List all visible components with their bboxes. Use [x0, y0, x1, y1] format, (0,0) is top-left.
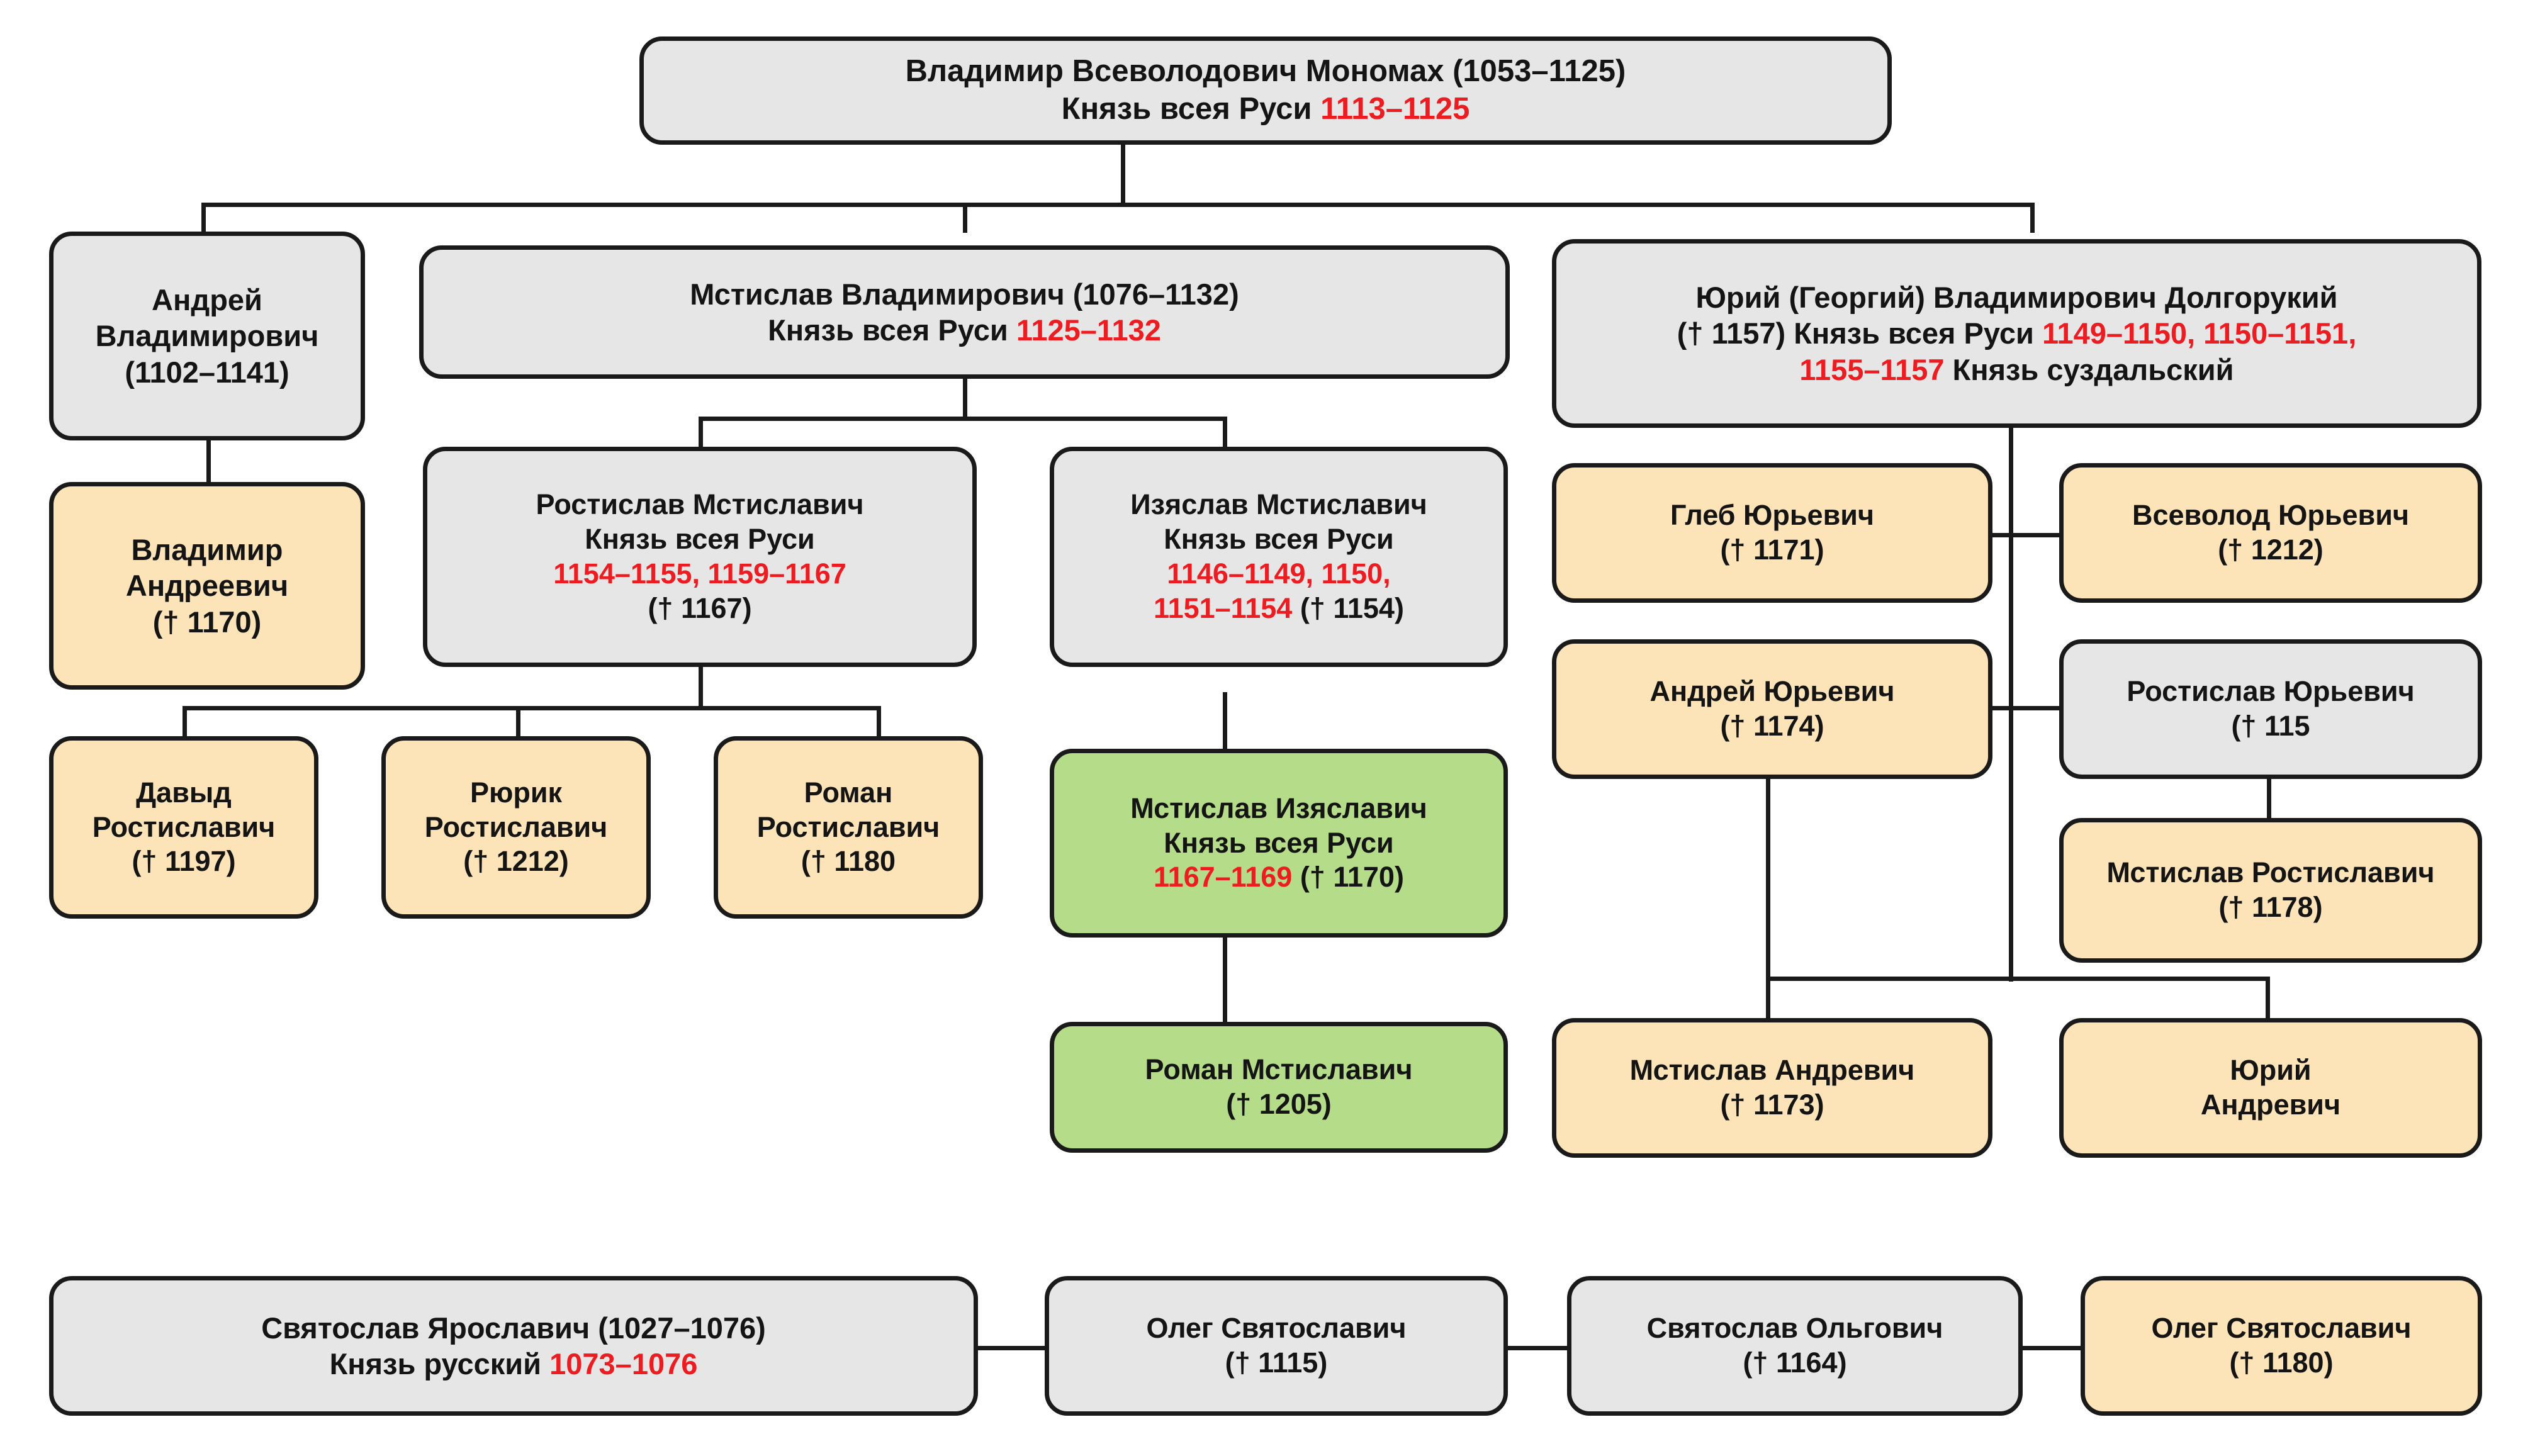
node-line: († 1180	[727, 844, 970, 879]
node-svyatoslav-yaroslavich[interactable]: Святослав Ярославич (1027–1076) Князь ру…	[49, 1276, 978, 1416]
node-line: Андревич	[2072, 1088, 2469, 1123]
reign-label: Князь всея Руси	[1062, 92, 1321, 126]
connector-yuri-spine	[2009, 428, 2013, 982]
node-line: Князь всея Руси	[1063, 826, 1495, 861]
connector-bus-to-andrey	[201, 203, 206, 233]
node-line: Олег Святославич	[2094, 1311, 2469, 1346]
node-line: Ростиславич	[395, 810, 638, 845]
connector-to-izyaslav-m	[1223, 417, 1227, 447]
node-line: Князь всея Руси 1113–1125	[653, 91, 1879, 128]
node-line: († 1170)	[62, 604, 352, 640]
node-izyaslav-mstislavich[interactable]: Изяслав Мстиславич Князь всея Руси 1146–…	[1050, 447, 1508, 667]
node-line: 1155–1157 Князь суздальский	[1565, 352, 2468, 388]
node-line: Андрей	[62, 282, 352, 318]
reign-years: 1167–1169	[1154, 861, 1292, 893]
node-line: († 1180)	[2094, 1346, 2469, 1380]
reign-label: Князь всея Руси	[768, 313, 1016, 347]
node-line-years: 1146–1149, 1150,	[1063, 557, 1495, 591]
node-line: († 1205)	[1063, 1087, 1495, 1122]
node-line: Роман	[727, 776, 970, 810]
connector-to-ryurik	[516, 706, 520, 736]
node-line: Олег Святославич	[1058, 1311, 1495, 1346]
connector-bus-to-yuri	[2030, 203, 2035, 233]
node-andrey-vladimirovich[interactable]: Андрей Владимирович (1102–1141)	[49, 232, 365, 440]
node-line: Князь всея Руси	[1063, 522, 1495, 557]
connector-svyatoslavolg-to-oleg1180	[2017, 1346, 2085, 1350]
node-line: († 1178)	[2072, 890, 2469, 925]
connector-andreyy-down	[1766, 779, 1770, 980]
node-line: († 1171)	[1565, 533, 1979, 568]
node-line: Андрей Юрьевич	[1565, 675, 1979, 709]
node-yuri-dolgoruky[interactable]: Юрий (Георгий) Владимирович Долгорукий (…	[1552, 239, 2481, 428]
node-line-years: 1154–1155, 1159–1167	[436, 557, 964, 591]
connector-to-rostislav-m	[699, 417, 703, 447]
node-line: 1167–1169 († 1170)	[1063, 860, 1495, 895]
connector-svyatoslav-to-oleg1115	[974, 1346, 1050, 1350]
reign-label: Князь русский	[330, 1347, 550, 1380]
node-mstislav-andrevich[interactable]: Мстислав Андревич († 1173)	[1552, 1018, 1992, 1158]
connector-rostislavm-bus	[183, 706, 881, 710]
connector-izyaslav-to-mstislavi	[1223, 692, 1227, 749]
node-line: Мстислав Андревич	[1565, 1053, 1979, 1088]
node-vsevolod-yurievich[interactable]: Всеволод Юрьевич († 1212)	[2059, 463, 2482, 603]
node-mstislav-izyaslavich[interactable]: Мстислав Изяславич Князь всея Руси 1167–…	[1050, 749, 1508, 938]
node-svyatoslav-olgovich[interactable]: Святослав Ольгович († 1164)	[1567, 1276, 2023, 1416]
connector-to-yuri-andrevich	[2266, 977, 2270, 1022]
node-line: († 1212)	[395, 844, 638, 879]
node-line: († 1157) Князь всея Руси 1149–1150, 1150…	[1565, 315, 2468, 351]
node-line: Глеб Юрьевич	[1565, 498, 1979, 533]
node-line: 1151–1154 († 1154)	[1063, 591, 1495, 626]
node-oleg-svyatoslavich-1115[interactable]: Олег Святославич († 1115)	[1045, 1276, 1508, 1416]
node-line: Мстислав Владимирович (1076–1132)	[432, 276, 1497, 312]
reign-years: 1125–1132	[1016, 313, 1161, 347]
node-line: Владимир Всеволодович Мономах (1053–1125…	[653, 53, 1879, 91]
node-line: (1102–1141)	[62, 354, 352, 390]
node-line: Роман Мстиславич	[1063, 1053, 1495, 1087]
node-oleg-svyatoslavich-1180[interactable]: Олег Святославич († 1180)	[2081, 1276, 2482, 1416]
node-ryurik-rostislavich[interactable]: Рюрик Ростиславич († 1212)	[381, 736, 651, 919]
node-line: Святослав Ярославич (1027–1076)	[62, 1310, 965, 1346]
node-vladimir-andreevich[interactable]: Владимир Андреевич († 1170)	[49, 482, 365, 690]
node-line: Ростиславич	[727, 810, 970, 845]
node-line: Владимирович	[62, 318, 352, 354]
connector-mstislavi-to-romanm	[1223, 938, 1227, 1026]
reign-years-2: 1155–1157	[1799, 353, 1944, 386]
node-line: († 1174)	[1565, 709, 1979, 744]
death-and-title: († 1157) Князь всея Руси	[1677, 316, 2042, 350]
genealogy-diagram: Владимир Всеволодович Мономах (1053–1125…	[0, 0, 2523, 1456]
reign-years: 1073–1076	[549, 1347, 697, 1380]
node-line: († 115	[2072, 709, 2469, 744]
node-line: Рюрик	[395, 776, 638, 810]
reign-years: 1113–1125	[1320, 92, 1469, 126]
node-line: Святослав Ольгович	[1580, 1311, 2009, 1346]
node-roman-rostislavich[interactable]: Роман Ростиславич († 1180	[714, 736, 983, 919]
connector-mstislavv-bus	[699, 417, 1227, 421]
node-line: († 1164)	[1580, 1346, 2009, 1380]
connector-mstislavv-down	[963, 378, 967, 420]
node-line: Ростислав Юрьевич	[2072, 675, 2469, 709]
death-year: († 1154)	[1292, 592, 1404, 624]
node-line: († 1167)	[436, 591, 964, 626]
node-line: Князь всея Руси 1125–1132	[432, 312, 1497, 348]
death-year: († 1170)	[1292, 861, 1404, 893]
suzdal-title: Князь суздальский	[1945, 353, 2234, 386]
node-line: Изяслав Мстиславич	[1063, 488, 1495, 522]
connector-rostislavm-down	[699, 667, 703, 710]
node-line: Ростислав Мстиславич	[436, 488, 964, 522]
node-line: Князь всея Руси	[436, 522, 964, 557]
node-line: Юрий	[2072, 1053, 2469, 1088]
node-mstislav-vladimirovich[interactable]: Мстислав Владимирович (1076–1132) Князь …	[419, 245, 1510, 379]
node-yuri-andrevich[interactable]: Юрий Андревич	[2059, 1018, 2482, 1158]
node-line: Князь русский 1073–1076	[62, 1346, 965, 1382]
node-line: Всеволод Юрьевич	[2072, 498, 2469, 533]
reign-years-2: 1151–1154	[1154, 592, 1292, 624]
node-line: († 1115)	[1058, 1346, 1495, 1380]
connector-andrey-to-vladimir	[206, 439, 211, 482]
node-line: († 1197)	[62, 844, 305, 879]
node-line: Мстислав Изяславич	[1063, 792, 1495, 826]
node-line: († 1212)	[2072, 533, 2469, 568]
node-line: Юрий (Георгий) Владимирович Долгорукий	[1565, 279, 2468, 315]
connector-bus-to-mstislav-v	[963, 203, 967, 233]
node-rostislav-yurievich[interactable]: Ростислав Юрьевич († 115	[2059, 639, 2482, 779]
reign-years: 1149–1150, 1150–1151,	[2042, 316, 2356, 350]
node-davyd-rostislavich[interactable]: Давыд Ростиславич († 1197)	[49, 736, 318, 919]
node-line: Мстислав Ростиславич	[2072, 856, 2469, 890]
node-line: Давыд	[62, 776, 305, 810]
node-line: Ростиславич	[62, 810, 305, 845]
node-rostislav-mstislavich[interactable]: Ростислав Мстиславич Князь всея Руси 115…	[423, 447, 977, 667]
connector-to-roman-r	[877, 706, 881, 736]
connector-oleg1115-to-svyatoslavolg	[1504, 1346, 1572, 1350]
connector-to-davyd	[183, 706, 187, 736]
node-gleb-yurievich[interactable]: Глеб Юрьевич († 1171)	[1552, 463, 1992, 603]
node-andrey-yurievich[interactable]: Андрей Юрьевич († 1174)	[1552, 639, 1992, 779]
connector-andreyy-bus	[1766, 977, 2269, 981]
connector-root-bus	[201, 203, 2035, 207]
node-line: Андреевич	[62, 568, 352, 603]
node-roman-mstislavich[interactable]: Роман Мстиславич († 1205)	[1050, 1022, 1508, 1153]
node-line: Владимир	[62, 532, 352, 568]
node-line: († 1173)	[1565, 1088, 1979, 1123]
connector-to-mstislav-andrevich	[1766, 977, 1770, 1022]
node-vladimir-monomakh[interactable]: Владимир Всеволодович Мономах (1053–1125…	[639, 36, 1892, 145]
node-mstislav-rostislavich[interactable]: Мстислав Ростиславич († 1178)	[2059, 818, 2482, 963]
